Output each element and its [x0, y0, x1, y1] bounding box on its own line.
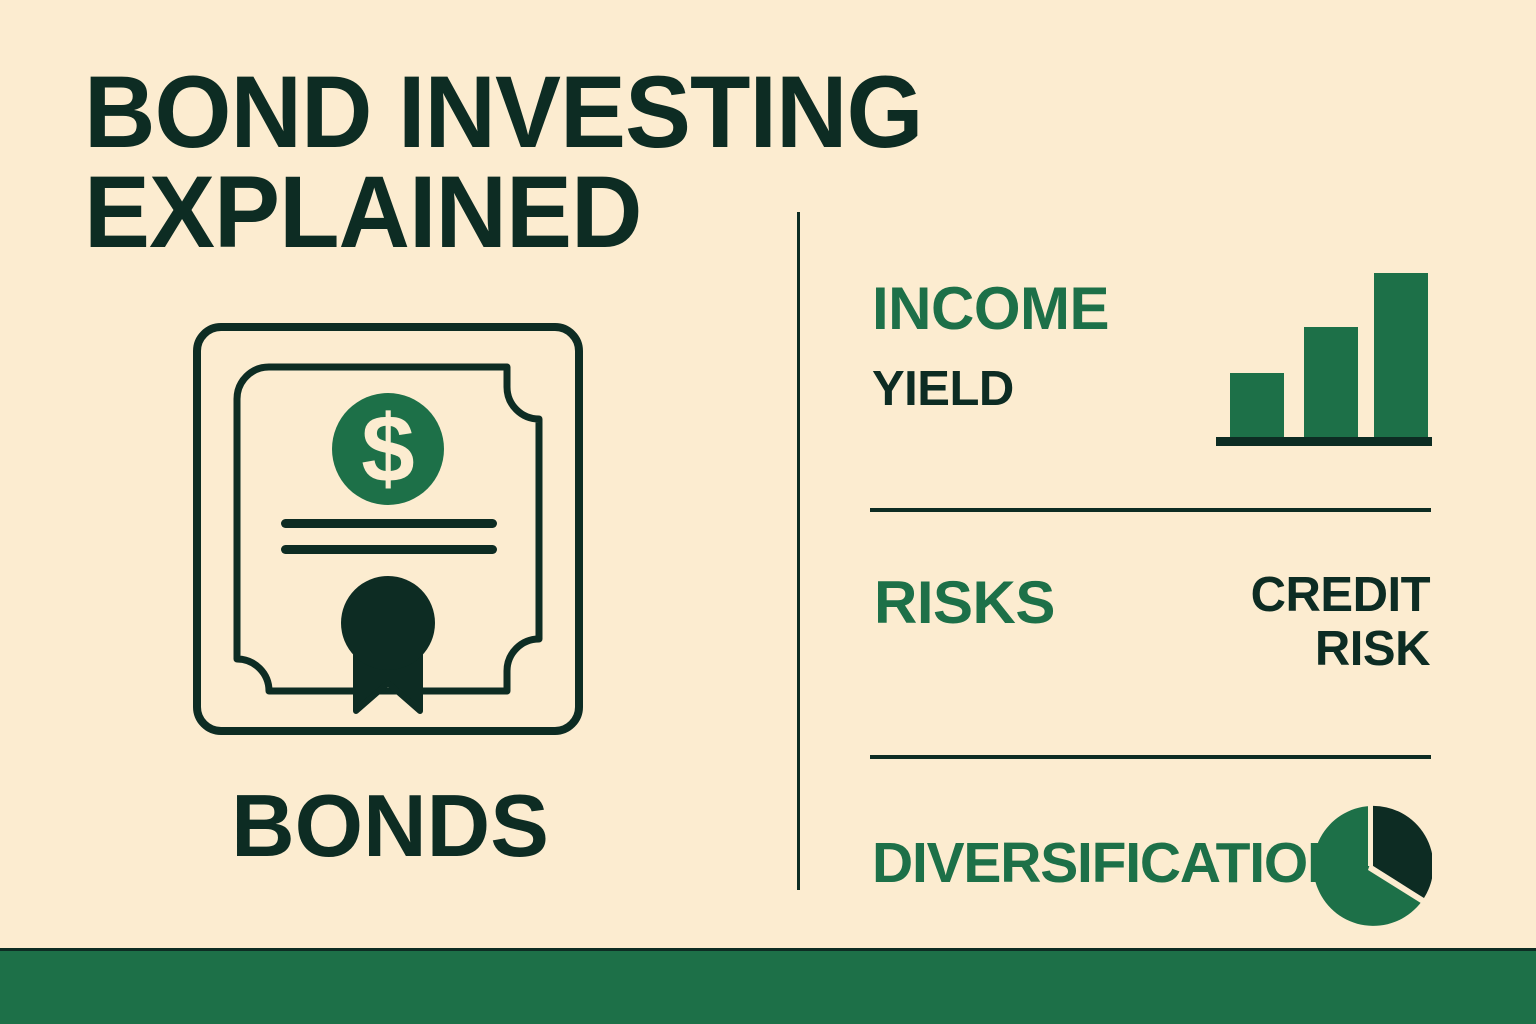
section-risks-kicker-wrap: RISKS	[874, 572, 1055, 634]
title-line-1: BOND INVESTING	[84, 62, 1054, 162]
income-text-group: INCOME YIELD	[872, 278, 1109, 416]
bar-2	[1304, 327, 1358, 437]
certificate-seal-icon	[341, 576, 435, 670]
pie-separator-vertical	[1368, 804, 1373, 866]
section-income-kicker: INCOME	[872, 278, 1109, 340]
bottom-band	[0, 951, 1536, 1024]
section-diversification-kicker: DIVERSIFICATION	[872, 832, 1347, 894]
section-risks-kicker: RISKS	[874, 572, 1055, 634]
section-income: INCOME YIELD	[870, 260, 1432, 490]
section-divider-1	[870, 508, 1431, 512]
ascending-bar-chart-icon	[1216, 265, 1432, 452]
section-income-detail: YIELD	[872, 362, 1109, 416]
certificate-rule-2	[281, 545, 497, 554]
bond-certificate-icon: $	[193, 323, 583, 735]
pie-chart-icon	[1308, 790, 1432, 947]
section-divider-2	[870, 755, 1431, 759]
section-risks-detail-wrap: CREDIT RISK	[1130, 568, 1430, 676]
vertical-divider	[797, 212, 800, 890]
section-risks-detail-line-1: CREDIT	[1130, 568, 1430, 622]
bar-3	[1374, 273, 1428, 437]
section-diversification: DIVERSIFICATION	[870, 790, 1432, 960]
certificate-rule-1	[281, 519, 497, 528]
section-risks: RISKS CREDIT RISK	[870, 550, 1432, 750]
bonds-caption: BONDS	[150, 778, 630, 874]
title-line-2: EXPLAINED	[84, 162, 1054, 262]
infographic-poster: BOND INVESTING EXPLAINED $ BONDS	[0, 0, 1536, 1024]
section-diversification-kicker-wrap: DIVERSIFICATION	[872, 832, 1347, 894]
section-risks-detail-line-2: RISK	[1130, 622, 1430, 676]
page-title: BOND INVESTING EXPLAINED	[84, 62, 1084, 262]
right-panel: INCOME YIELD RISKS CREDIT RISK	[870, 260, 1432, 940]
bar-chart-baseline	[1216, 437, 1432, 446]
dollar-sign-icon: $	[361, 396, 414, 503]
bar-1	[1230, 373, 1284, 437]
